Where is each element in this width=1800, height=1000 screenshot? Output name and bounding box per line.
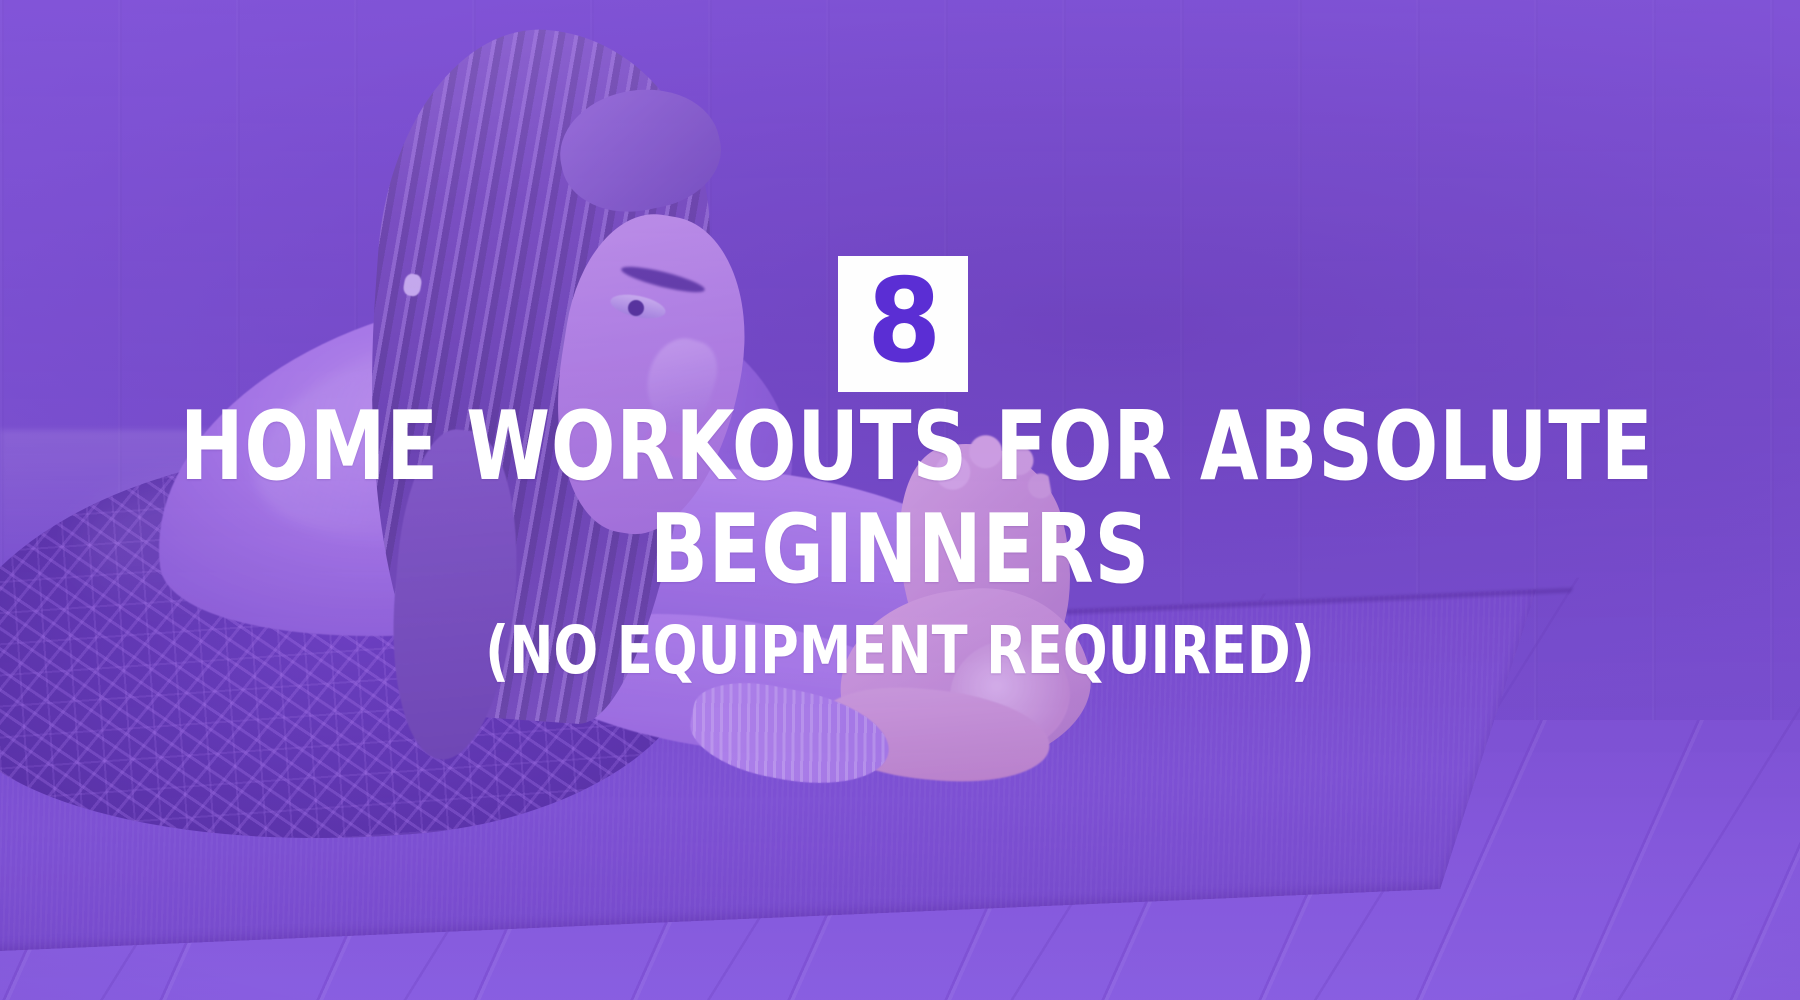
headline-line-3: (NO EQUIPMENT REQUIRED) xyxy=(180,621,1620,682)
number-badge: 8 xyxy=(838,256,968,392)
header-graphic: 8 HOME WORKOUTS FOR ABSOLUTE BEGINNERS (… xyxy=(0,0,1800,1000)
headline-line-2: BEGINNERS xyxy=(180,507,1620,594)
headline-line-1: HOME WORKOUTS FOR ABSOLUTE xyxy=(180,404,1620,491)
badge-number: 8 xyxy=(867,264,939,380)
headline-block: HOME WORKOUTS FOR ABSOLUTE BEGINNERS (NO… xyxy=(0,404,1800,682)
text-overlay: 8 HOME WORKOUTS FOR ABSOLUTE BEGINNERS (… xyxy=(0,0,1800,1000)
